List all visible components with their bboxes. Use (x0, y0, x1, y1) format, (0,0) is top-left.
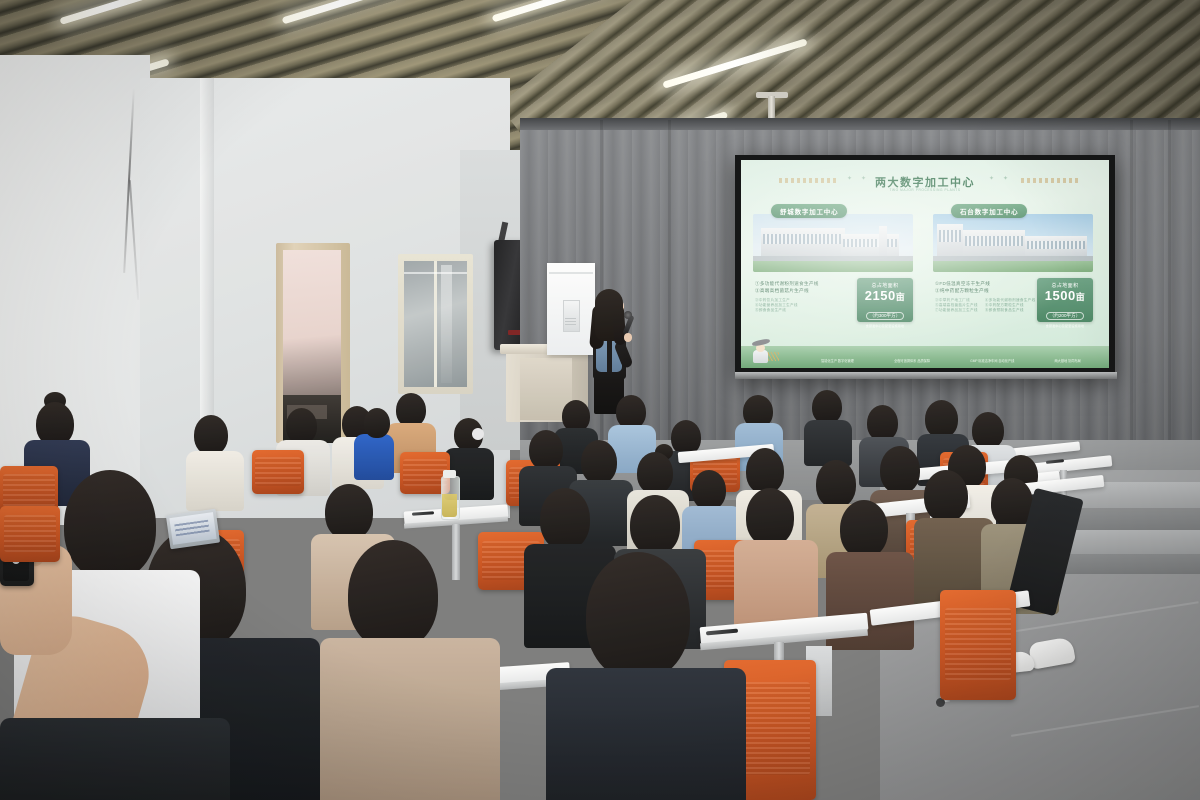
attendee-head (364, 408, 390, 438)
attendee-head (880, 446, 920, 494)
attendee-head (692, 470, 726, 510)
footer-item-3: GMP 标准洁净车间 自动化产线 (970, 359, 1014, 364)
attendee-head (746, 488, 794, 546)
stat-unit-left: 亩 (896, 292, 906, 302)
bullet-left-1: ①多功能代谢粉剂速食生产线 (755, 280, 819, 287)
microphone-head-icon (624, 311, 632, 319)
stat-note-right: （约200平方） (1046, 312, 1085, 320)
lecture-hall-photo: ✦ ✦ 两大数字加工中心 TWO MAJOR PROCESSING PLANTS… (0, 0, 1200, 800)
photo-building-windows-right (843, 239, 897, 247)
curtain-rail (520, 118, 1200, 130)
presenter-vest-opening (607, 338, 612, 372)
subbullet-right-3: ⑦功能营养品加工生产线 (935, 308, 978, 313)
photo-mid-windows (965, 236, 1023, 246)
farmer-mascot-icon (747, 340, 777, 366)
chair[interactable] (940, 590, 1016, 700)
attendee-head (586, 552, 690, 680)
stat-number-right: 1500 (1045, 288, 1076, 303)
board-notice-text (565, 318, 576, 327)
attendee-body (320, 638, 500, 800)
attendee-head (746, 448, 784, 494)
photo-lawn (753, 261, 913, 272)
projection-screen: ✦ ✦ 两大数字加工中心 TWO MAJOR PROCESSING PLANTS… (741, 160, 1109, 368)
attendee-head (616, 395, 646, 429)
chair[interactable] (0, 506, 60, 562)
window-upper-bar (404, 272, 467, 274)
attendee-head (816, 460, 856, 508)
slide-footer-band: 智能化生产 数字化管理 全程可追溯体系 品质保障 GMP 标准洁净车间 自动化产… (741, 346, 1109, 368)
stat-unit-right: 亩 (1076, 292, 1086, 302)
photo-building-windows (763, 234, 843, 244)
bullet-right-1: ①FD低温真空冻干生产线 (935, 280, 1035, 287)
subbullet-left-3: ⑤即食食品生产线 (755, 308, 819, 313)
attendee-body (0, 718, 230, 800)
attendee-head (581, 440, 617, 484)
slide-footer-items: 智能化生产 数字化管理 全程可追溯体系 品质保障 GMP 标准洁净车间 自动化产… (801, 359, 1101, 364)
attendee-head (637, 452, 673, 494)
panel-label-right: 石台数字加工中心 (951, 204, 1027, 218)
bottle-contents (442, 494, 457, 517)
footer-item-1: 智能化生产 数字化管理 (821, 359, 854, 364)
attendee-head (396, 393, 426, 427)
bullet-left-2: ②高端高档菌菇片生产线 (755, 287, 819, 294)
title-decor-right (1021, 178, 1079, 183)
facility-photo-right (933, 214, 1093, 272)
window-reflection (441, 265, 452, 383)
board-top-line (549, 272, 593, 274)
attendee-head (348, 540, 438, 650)
board-notice-card (563, 300, 580, 332)
attendee-head (867, 405, 898, 441)
attendee-body (354, 434, 394, 480)
hair-tie (472, 428, 484, 440)
photo-tower (879, 226, 887, 260)
photo-lawn (933, 261, 1093, 272)
stat-footnote-left: 含研发中心及配套设施用地 (857, 324, 913, 328)
step-4 (1056, 554, 1200, 574)
attendee-head (529, 430, 563, 470)
stat-box-left: 总占地面积 2150亩 （约300平方） 含研发中心及配套设施用地 (857, 278, 913, 322)
attendee-body (186, 451, 244, 511)
bullet-list-right: ①FD低温真空冻干生产线 ②纯中药配方颗粒生产线 ③中草药产地工厂线 ⑤高端高档… (935, 280, 1035, 314)
facility-photo-left (753, 214, 913, 272)
subbullet-right-6: ⑧即食预制食品生产线 (985, 308, 1036, 313)
attendee-head (812, 390, 842, 424)
attendee-head (194, 415, 228, 455)
attendee-head (924, 470, 968, 522)
footer-item-2: 全程可追溯体系 品质保障 (894, 359, 930, 364)
panel-label-left: 舒城数字加工中心 (771, 204, 847, 218)
attendee-head (925, 400, 958, 438)
attendee-head (630, 495, 680, 555)
attendee-body (804, 420, 852, 466)
desk-leg (452, 524, 460, 580)
attendee-body (546, 668, 746, 800)
stat-number-left: 2150 (865, 288, 896, 303)
slide-heading-en: TWO MAJOR PROCESSING PLANTS (741, 188, 1109, 192)
bullet-list-left: ①多功能代谢粉剂速食生产线 ②高端高档菌菇片生产线 ③中药饮片加工生产 ④功能营… (755, 280, 819, 314)
chair[interactable] (252, 450, 304, 494)
stat-box-right: 总占地面积 1500亩 （约200平方） 含研发中心及配套设施用地 (1037, 278, 1093, 322)
bullet-right-2: ②纯中药配方颗粒生产线 (935, 287, 1035, 294)
attendee-head (286, 408, 317, 444)
bottle-cap[interactable] (443, 470, 456, 478)
photo-long-windows (1027, 241, 1085, 249)
attendee-head (840, 500, 888, 558)
attendee-head (540, 488, 590, 550)
attendee-head (64, 470, 156, 580)
curtain-fold (1130, 120, 1133, 490)
stat-value-right: 1500亩 (1037, 289, 1093, 304)
title-star-right-2: ✦ (1003, 177, 1008, 182)
attendee-head (972, 412, 1004, 449)
footer-item-4: 两大基地 协同布局 (1054, 359, 1080, 364)
window-mullion (434, 261, 437, 387)
attendee-head (325, 484, 373, 540)
stat-value-left: 2150亩 (857, 289, 913, 304)
presenter-hand (624, 333, 632, 342)
title-star-right: ✦ (989, 177, 994, 182)
stat-footnote-right: 含研发中心及配套设施用地 (1037, 324, 1093, 328)
photo-tower-windows (939, 230, 961, 242)
stat-note-left: （约300平方） (866, 312, 905, 320)
curtain-fold (1168, 120, 1171, 490)
screen-bottom-bar (735, 372, 1117, 379)
